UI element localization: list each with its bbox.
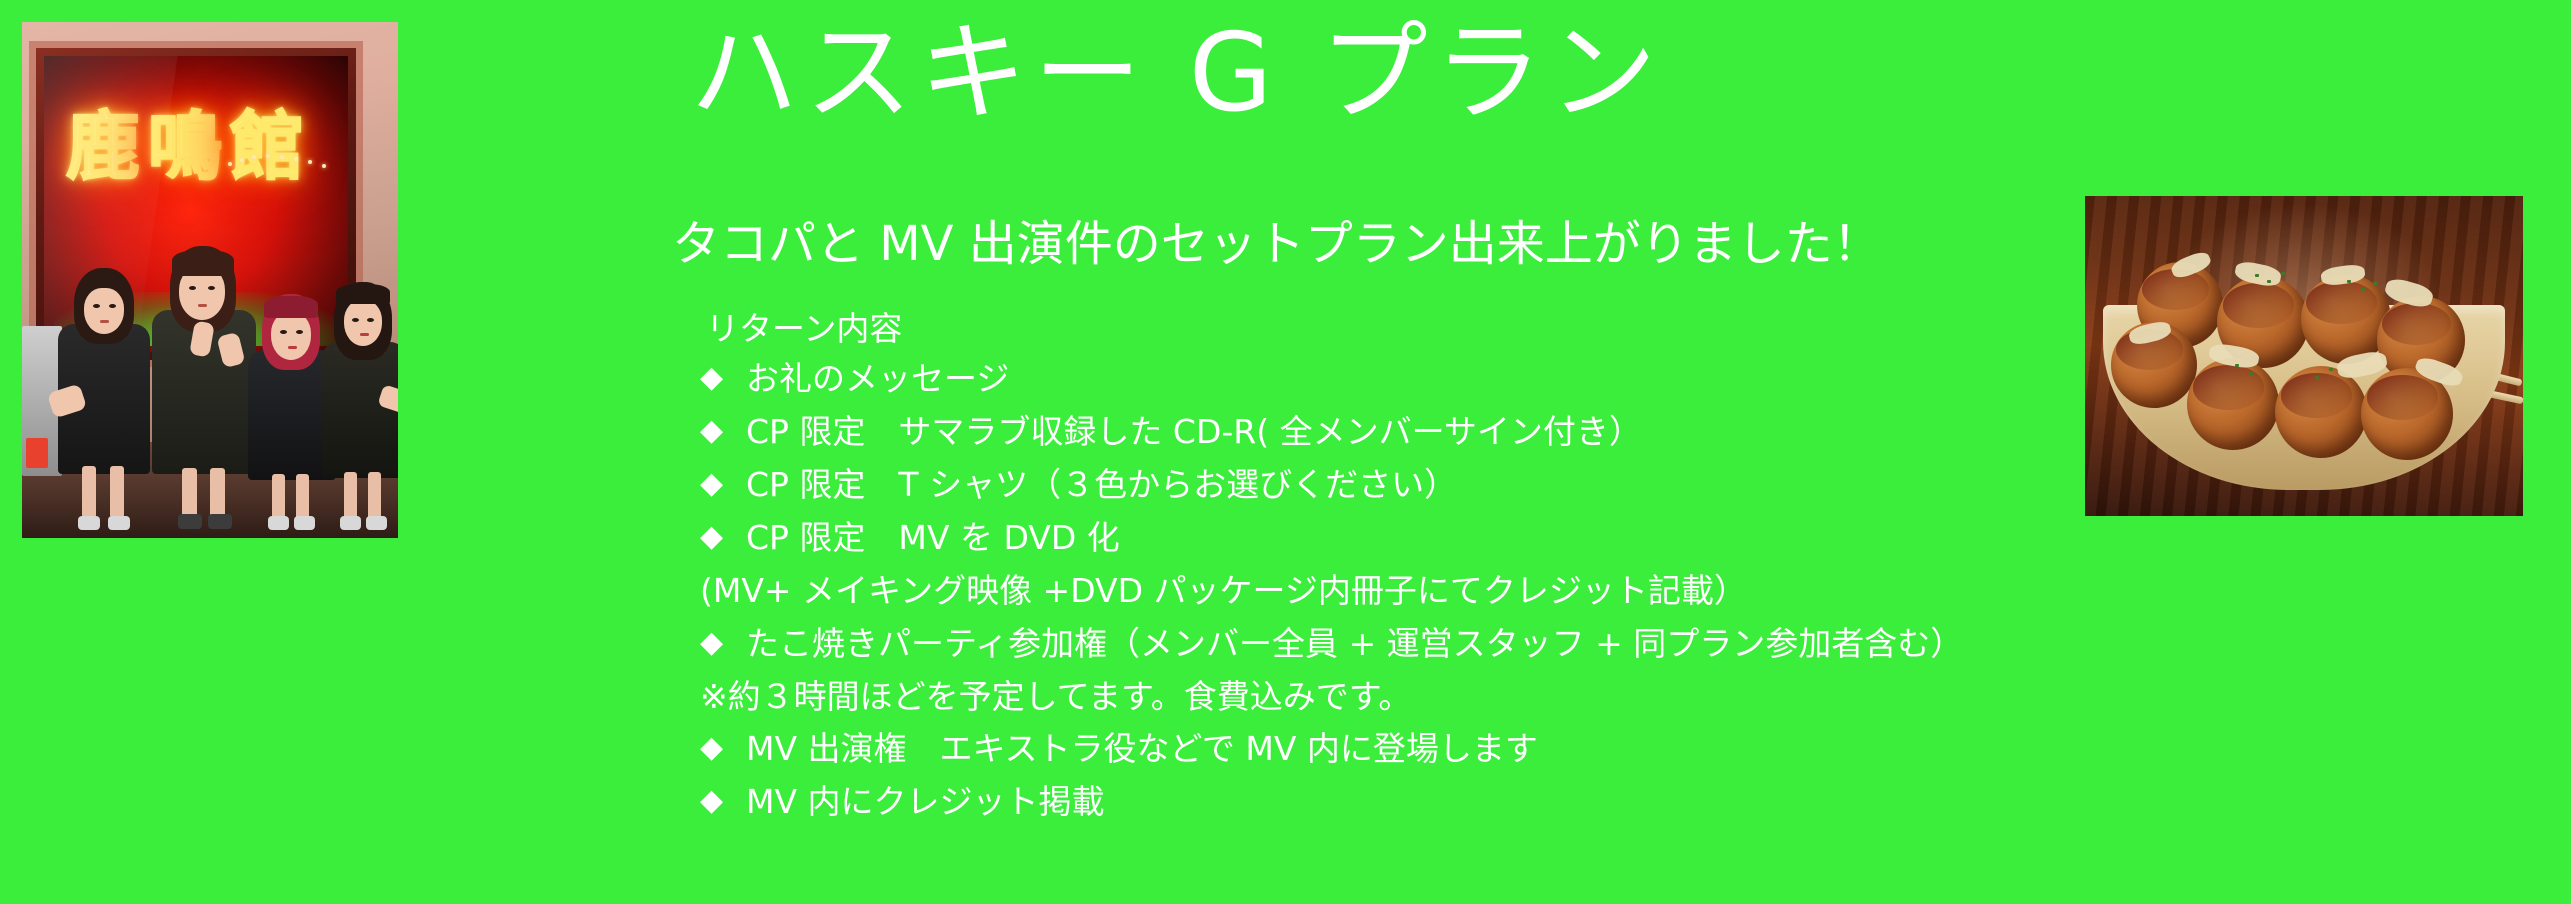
list-item-label: お礼のメッセージ <box>746 358 1009 401</box>
aonori-flake <box>2267 280 2271 283</box>
bullet-icon: ◆ <box>700 464 746 503</box>
photo-members <box>22 238 398 538</box>
bullet-icon: ◆ <box>700 623 746 662</box>
page-title: ハスキー G プラン <box>690 16 1663 133</box>
list-item-label: CP 限定 サマラブ収録した CD-R( 全メンバーサイン付き） <box>746 411 1642 454</box>
member-2 <box>148 238 258 538</box>
member-4 <box>322 238 398 538</box>
aonori-flake <box>2249 372 2253 375</box>
bullet-icon: ◆ <box>700 517 746 556</box>
list-item-label: CP 限定 T シャツ（３色からお選びください） <box>746 464 1457 507</box>
string-lights-icon <box>226 152 336 174</box>
bullet-icon: ◆ <box>700 411 746 450</box>
list-item-label: MV 出演権 エキストラ役などで MV 内に登場します <box>746 728 1538 771</box>
bullet-icon: ◆ <box>700 781 746 820</box>
list-item: ◆ MV 出演権 エキストラ役などで MV 内に登場します <box>700 728 2530 771</box>
takoyaki-photo <box>2085 196 2523 516</box>
list-note-label: (MV+ メイキング映像 +DVD パッケージ内冊子にてクレジット記載） <box>700 570 1747 613</box>
list-item-label: MV 内にクレジット掲載 <box>746 781 1105 824</box>
list-item: ◆ たこ焼きパーティ参加権（メンバー全員 + 運営スタッフ + 同プラン参加者含… <box>700 623 2530 666</box>
list-item-label: CP 限定 MV を DVD 化 <box>746 517 1120 560</box>
aonori-flake <box>2361 288 2365 291</box>
aonori-flake <box>2347 280 2351 283</box>
aonori-flake <box>2255 274 2259 277</box>
list-note: ※約３時間ほどを予定してます。食費込みです。 <box>700 676 2530 719</box>
aonori-flake <box>2329 368 2333 371</box>
neon-char-2: 鳴 <box>148 110 222 184</box>
aonori-flake <box>2373 282 2377 285</box>
aonori-flake <box>2281 272 2285 275</box>
neon-char-1: 鹿 <box>66 110 140 184</box>
poster-canvas: 鹿 鳴 館 <box>0 0 2571 904</box>
bullet-icon: ◆ <box>700 358 746 397</box>
list-item: ◆ MV 内にクレジット掲載 <box>700 781 2530 824</box>
bullet-icon: ◆ <box>700 728 746 767</box>
list-note: (MV+ メイキング映像 +DVD パッケージ内冊子にてクレジット記載） <box>700 570 2530 613</box>
list-item-label: たこ焼きパーティ参加権（メンバー全員 + 運営スタッフ + 同プラン参加者含む） <box>746 623 1963 666</box>
group-photo: 鹿 鳴 館 <box>22 22 398 538</box>
takoyaki-ball <box>2275 366 2367 458</box>
page-subtitle: タコパと MV 出演件のセットプラン出来上がりました！ <box>672 216 1881 274</box>
takoyaki-ball <box>2187 358 2279 450</box>
aonori-flake <box>2315 376 2319 379</box>
list-item: ◆ CP 限定 MV を DVD 化 <box>700 517 2530 560</box>
member-1 <box>56 238 152 538</box>
list-note-label: ※約３時間ほどを予定してます。食費込みです。 <box>700 676 1411 719</box>
aonori-flake <box>2235 364 2239 367</box>
